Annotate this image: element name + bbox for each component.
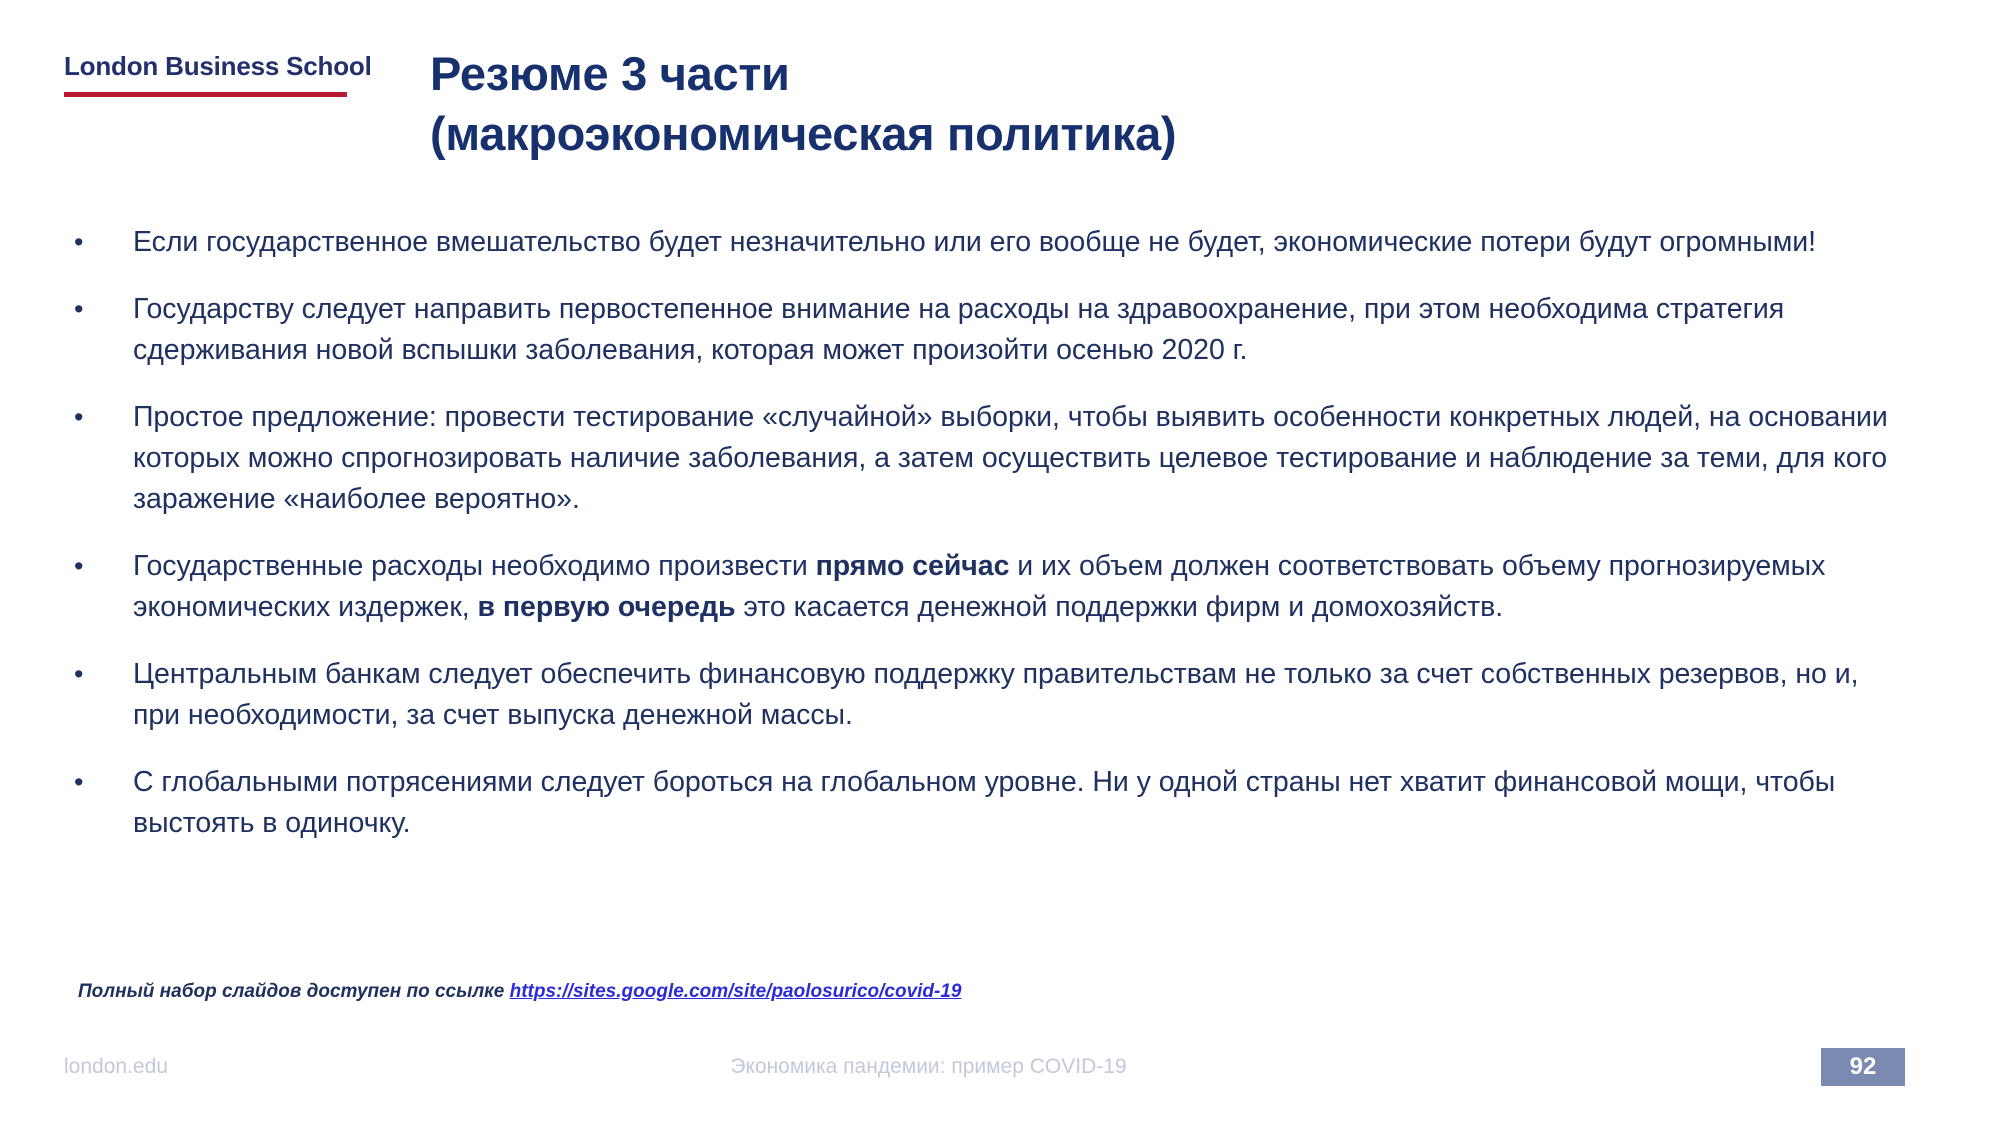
bullet-text-segment: Государственные расходы необходимо произ…: [133, 550, 816, 582]
bullet-text-segment: Простое предложение: провести тестирован…: [133, 401, 1888, 515]
bullet-text: Центральным банкам следует обеспечить фи…: [133, 654, 1904, 736]
bullet-marker-icon: •: [64, 222, 133, 263]
bullet-marker-icon: •: [64, 397, 133, 438]
bullet-text-segment: Государству следует направить первостепе…: [133, 293, 1784, 366]
bullet-marker-icon: •: [64, 762, 133, 803]
bullet-text-emphasis: в первую очередь: [478, 591, 736, 623]
footnote-link[interactable]: https://sites.google.com/site/paolosuric…: [510, 981, 962, 1002]
bullet-text-segment: Центральным банкам следует обеспечить фи…: [133, 658, 1858, 731]
bullet-text-segment: С глобальными потрясениями следует борот…: [133, 766, 1835, 839]
bullet-text-emphasis: прямо сейчас: [816, 550, 1010, 582]
page-title: Резюме 3 части (макроэкономическая полит…: [430, 44, 1850, 164]
page-number-badge: 92: [1821, 1048, 1905, 1086]
page-title-line-2: (макроэкономическая политика): [430, 104, 1850, 164]
bullet-item: •Простое предложение: провести тестирова…: [64, 397, 1904, 520]
footnote: Полный набор слайдов доступен по ссылке …: [78, 981, 962, 1003]
london-business-school-logo: London Business School: [64, 52, 354, 97]
bullet-item: •Государству следует направить первостеп…: [64, 289, 1904, 371]
bullet-item: •С глобальными потрясениями следует боро…: [64, 762, 1904, 844]
bullet-item: •Государственные расходы необходимо прои…: [64, 546, 1904, 628]
logo-wordmark: London Business School: [64, 52, 354, 81]
bullet-text-segment: это касается денежной поддержки фирм и д…: [736, 591, 1504, 623]
logo-red-rule: [64, 92, 347, 97]
bullet-marker-icon: •: [64, 289, 133, 330]
bullet-text: Простое предложение: провести тестирован…: [133, 397, 1904, 520]
bullet-text: Если государственное вмешательство будет…: [133, 222, 1904, 263]
bullet-item: •Если государственное вмешательство буде…: [64, 222, 1904, 263]
slide: London Business School Резюме 3 части (м…: [0, 0, 2000, 1125]
bullet-text: Государству следует направить первостепе…: [133, 289, 1904, 371]
bullet-text-segment: Если государственное вмешательство будет…: [133, 226, 1816, 258]
bullet-item: •Центральным банкам следует обеспечить ф…: [64, 654, 1904, 736]
page-title-line-1: Резюме 3 части: [430, 44, 1850, 104]
bullet-marker-icon: •: [64, 546, 133, 587]
footnote-prefix: Полный набор слайдов доступен по ссылке: [78, 981, 510, 1002]
footer-deck-title: Экономика пандемии: пример COVID-19: [0, 1055, 1857, 1079]
bullet-list: •Если государственное вмешательство буде…: [64, 222, 1904, 870]
bullet-marker-icon: •: [64, 654, 133, 695]
bullet-text: С глобальными потрясениями следует борот…: [133, 762, 1904, 844]
bullet-text: Государственные расходы необходимо произ…: [133, 546, 1904, 628]
